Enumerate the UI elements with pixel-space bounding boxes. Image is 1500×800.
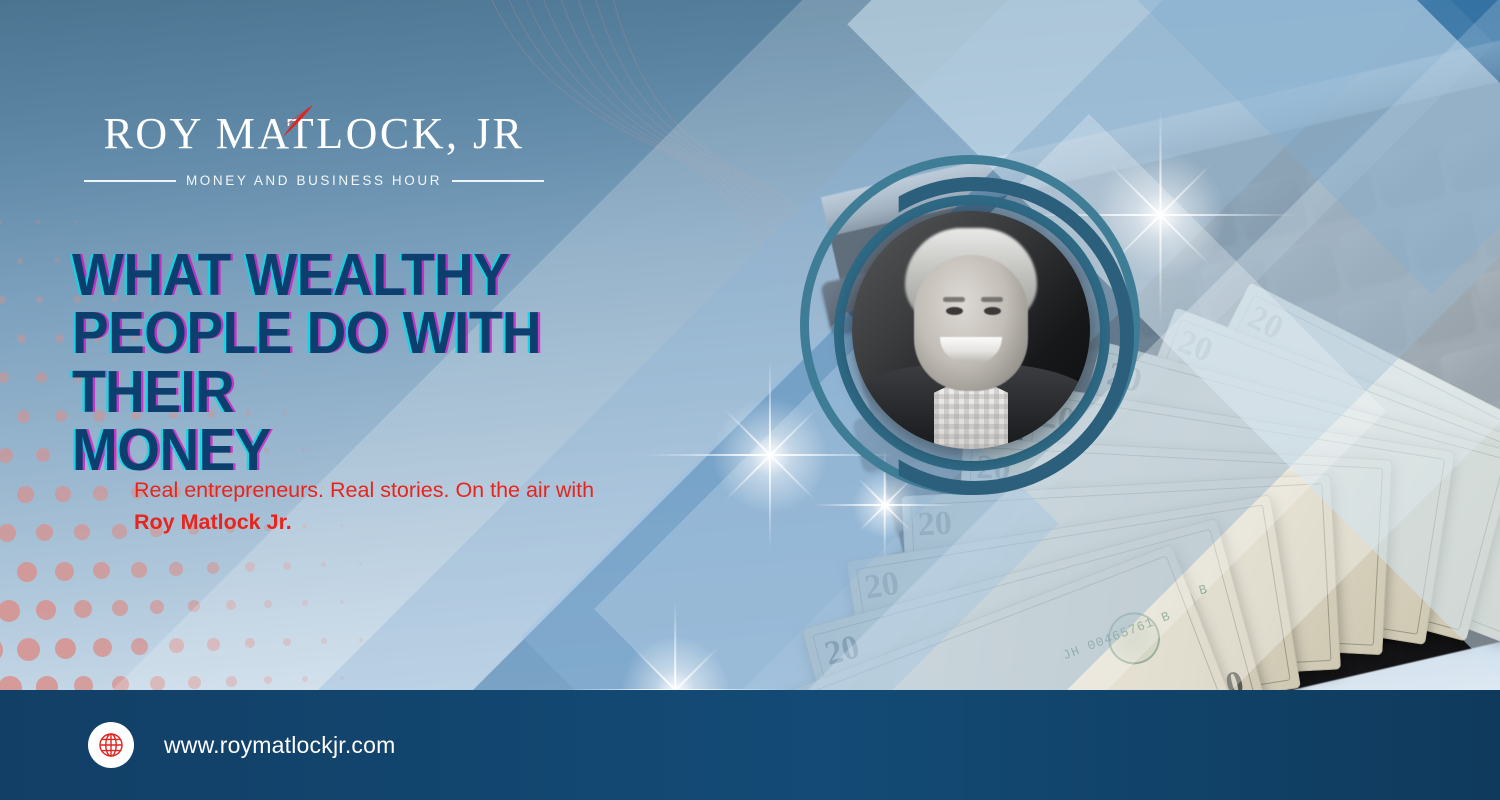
logo-tagline-row: MONEY AND BUSINESS HOUR	[84, 173, 544, 188]
tagline-rule-right	[452, 180, 544, 182]
globe-badge	[88, 722, 134, 768]
promo-banner: 2020JH 00465761 B2020JH 00465761 B202020…	[0, 0, 1500, 800]
avatar	[852, 211, 1090, 449]
red-swoosh-icon	[269, 104, 315, 138]
brand-logo: ROY MATLOCK, JR MONEY AND BUSINESS HOUR	[84, 108, 544, 188]
host-portrait	[800, 155, 1140, 505]
headline-line-2: PEOPLE DO WITH THEIR	[72, 304, 714, 421]
page-title: WHAT WEALTHY PEOPLE DO WITH THEIR MONEY	[72, 246, 714, 480]
website-url[interactable]: www.roymatlockjr.com	[164, 732, 395, 759]
subtitle-highlight: Roy Matlock Jr.	[134, 510, 292, 534]
subtitle: Real entrepreneurs. Real stories. On the…	[134, 475, 604, 539]
subtitle-text: Real entrepreneurs. Real stories. On the…	[134, 478, 594, 502]
tagline-rule-left	[84, 180, 176, 182]
footer-bar: www.roymatlockjr.com	[0, 690, 1500, 800]
globe-icon	[96, 730, 126, 760]
headline-line-3: MONEY	[72, 421, 714, 479]
headline-line-1: WHAT WEALTHY	[72, 246, 714, 304]
logo-tagline: MONEY AND BUSINESS HOUR	[186, 173, 442, 188]
